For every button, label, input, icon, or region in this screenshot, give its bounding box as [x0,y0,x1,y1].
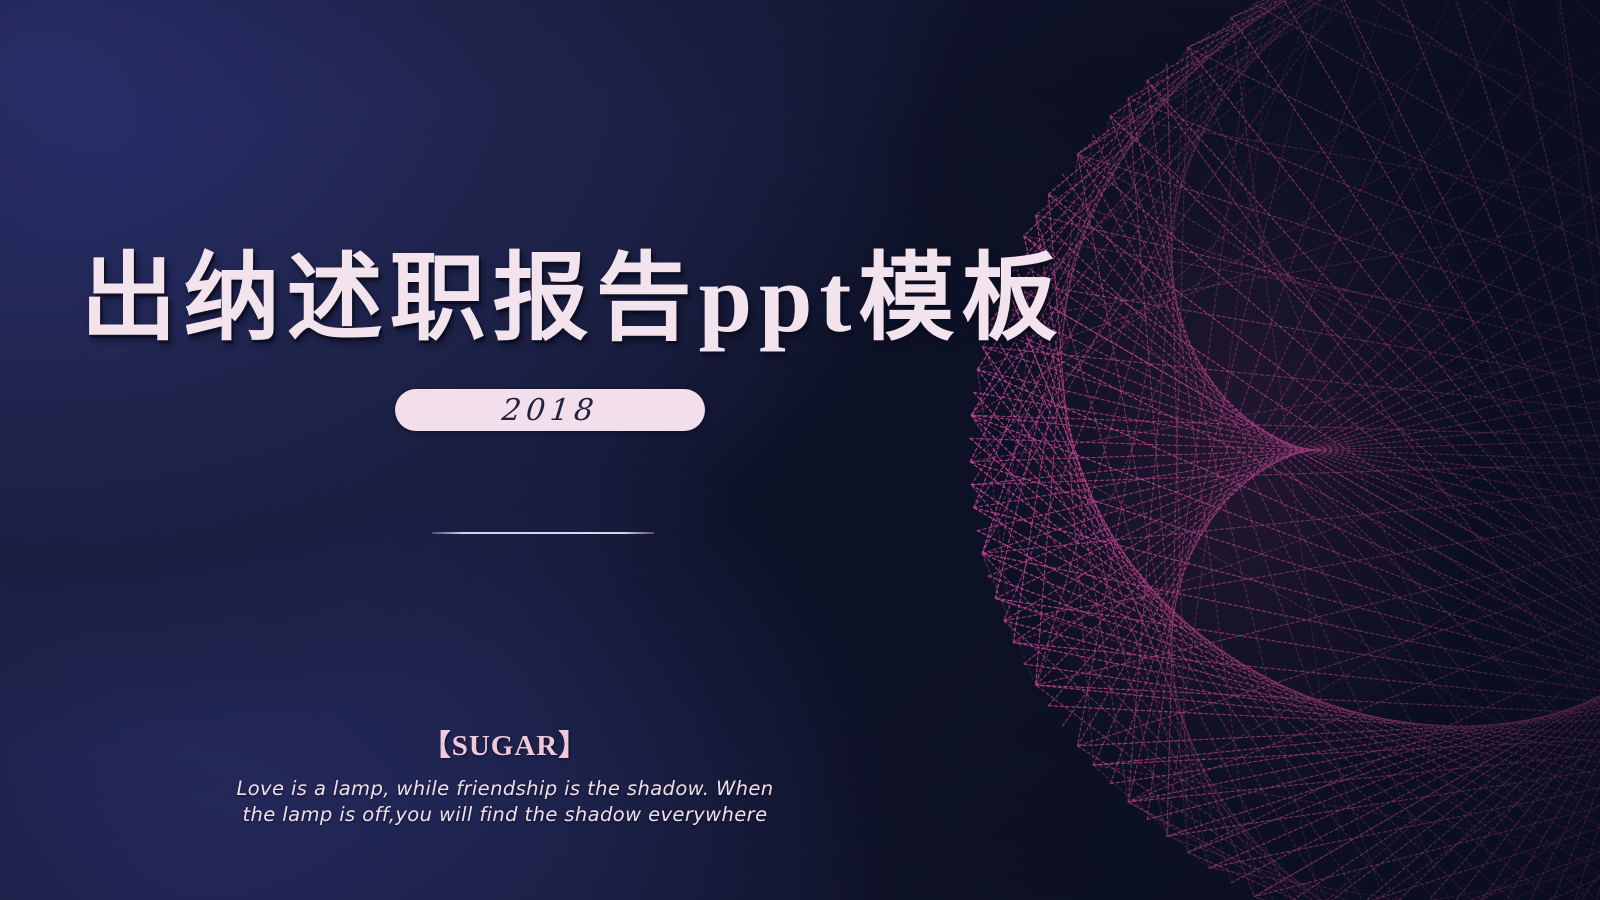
divider-line [432,532,654,534]
year-badge: 2018 [395,389,705,431]
footer-block: 【SUGAR】 Love is a lamp, while friendship… [0,722,1010,828]
title-slide: 出纳述职报告ppt模板 2018 【SUGAR】 Love is a lamp,… [0,0,1600,900]
quote-text: Love is a lamp, while friendship is the … [0,776,1010,828]
quote-line-2: the lamp is off,you will find the shadow… [0,802,1010,828]
quote-line-1: Love is a lamp, while friendship is the … [0,776,1010,802]
page-title: 出纳述职报告ppt模板 [0,248,1145,350]
title-block: 出纳述职报告ppt模板 [0,248,1145,350]
brand-tag: 【SUGAR】 [0,722,1010,764]
year-badge-label: 2018 [500,393,600,428]
